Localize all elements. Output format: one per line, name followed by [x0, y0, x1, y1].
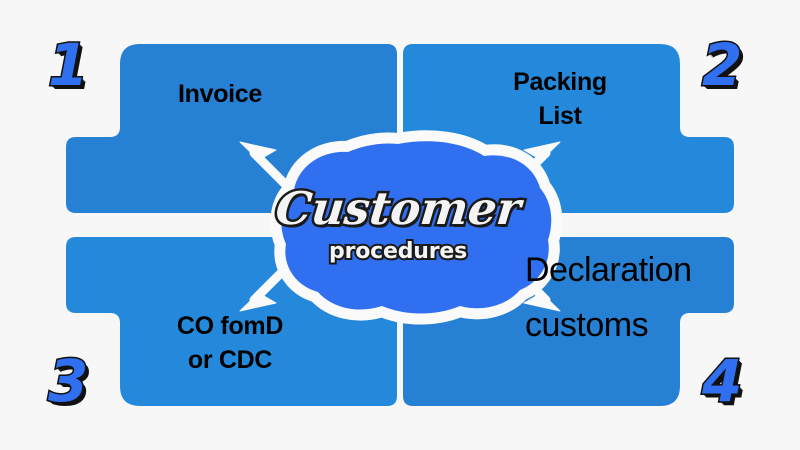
customer-procedures-diagram: Invoice Packing List CO fomD or CDC Decl… — [0, 0, 800, 450]
center-node-fill — [281, 141, 551, 313]
center-node[interactable] — [281, 141, 551, 313]
diagram-canvas — [0, 0, 800, 450]
